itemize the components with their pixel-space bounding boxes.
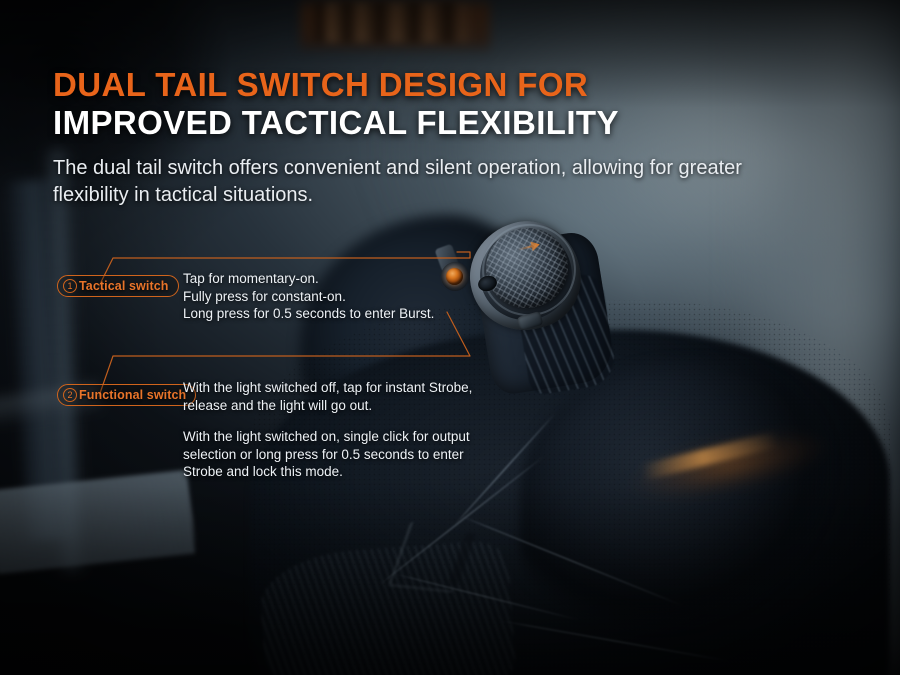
intro-paragraph: The dual tail switch offers convenient a… (53, 155, 793, 209)
badge-functional-switch[interactable]: 2 Functional switch (57, 384, 196, 406)
callout-text-functional-switch-extra: With the light switched on, single click… (183, 428, 470, 481)
badge-tactical-switch[interactable]: 1 Tactical switch (57, 275, 179, 297)
badge-number-icon: 2 (63, 388, 77, 402)
callout-text-functional-switch: With the light switched off, tap for ins… (183, 379, 472, 414)
page-title-line-1: DUAL TAIL SWITCH DESIGN FOR (53, 66, 619, 104)
page-title-line-2: IMPROVED TACTICAL FLEXIBILITY (53, 104, 619, 142)
badge-functional-switch-label: Functional switch (79, 388, 186, 402)
page-title: DUAL TAIL SWITCH DESIGN FOR IMPROVED TAC… (53, 66, 619, 142)
callout-text-tactical-switch: Tap for momentary-on. Fully press for co… (183, 270, 434, 323)
product-feature-slide: DUAL TAIL SWITCH DESIGN FOR IMPROVED TAC… (0, 0, 900, 675)
badge-tactical-switch-label: Tactical switch (79, 279, 169, 293)
badge-number-icon: 1 (63, 279, 77, 293)
